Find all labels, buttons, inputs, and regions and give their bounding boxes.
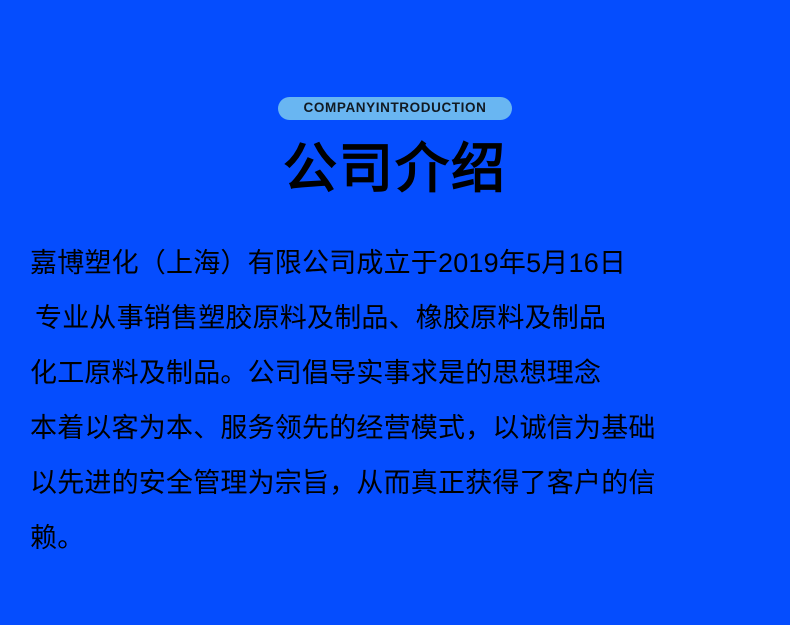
description-line: 以先进的安全管理为宗旨，从而真正获得了客户的信: [30, 456, 770, 511]
eyebrow-badge: COMPANYINTRODUCTION: [278, 97, 513, 120]
description-line: 赖。: [30, 511, 770, 566]
description-line: 本着以客为本、服务领先的经营模式，以诚信为基础: [30, 401, 770, 456]
company-introduction-banner: COMPANYINTRODUCTION 公司介绍 嘉博塑化（上海）有限公司成立于…: [0, 0, 790, 625]
description-line: 嘉博塑化（上海）有限公司成立于2019年5月16日: [30, 236, 770, 291]
company-description: 嘉博塑化（上海）有限公司成立于2019年5月16日 专业从事销售塑胶原料及制品、…: [30, 236, 770, 566]
banner-header: COMPANYINTRODUCTION 公司介绍: [0, 0, 790, 199]
page-title: 公司介绍: [0, 139, 790, 199]
description-line: 化工原料及制品。公司倡导实事求是的思想理念: [30, 346, 770, 401]
description-line: 专业从事销售塑胶原料及制品、橡胶原料及制品: [30, 291, 770, 346]
